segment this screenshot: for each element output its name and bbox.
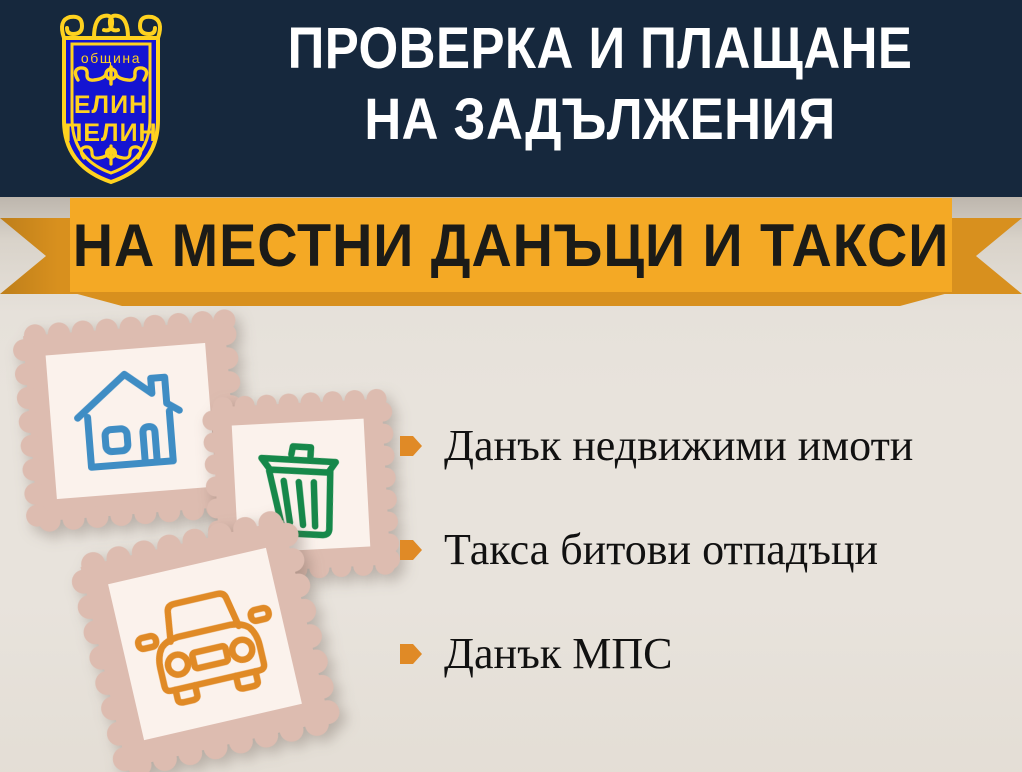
svg-text:ПЕЛИН: ПЕЛИН (64, 119, 157, 147)
list-item[interactable]: Данък МПС (400, 628, 1010, 680)
subtitle-ribbon: НА МЕСТНИ ДАНЪЦИ И ТАКСИ (0, 198, 1022, 310)
ribbon-shadow-strip (70, 292, 952, 306)
page-title-line-1: ПРОВЕРКА И ПЛАЩАНЕ (239, 14, 961, 85)
page-title-line-2: НА ЗАДЪЛЖЕНИЯ (239, 85, 961, 156)
svg-text:община: община (81, 50, 141, 66)
list-item-label: Данък недвижими имоти (444, 424, 913, 468)
arrow-bullet-icon (400, 537, 422, 563)
list-item[interactable]: Данък недвижими имоти (400, 420, 1010, 472)
svg-text:ЕЛИН: ЕЛИН (74, 91, 148, 119)
tax-types-list: Данък недвижими имоти Такса битови отпад… (400, 420, 1010, 680)
ribbon-subtitle: НА МЕСТНИ ДАНЪЦИ И ТАКСИ (101, 198, 921, 292)
list-item-label: Такса битови отпадъци (444, 528, 878, 572)
list-item-label: Данък МПС (444, 632, 672, 676)
arrow-bullet-icon (400, 641, 422, 667)
arrow-bullet-icon (400, 433, 422, 459)
page-title: ПРОВЕРКА И ПЛАЩАНЕ НА ЗАДЪЛЖЕНИЯ (239, 14, 961, 156)
poster-canvas: община ЕЛИН ПЕЛИН (0, 0, 1022, 772)
header-band: община ЕЛИН ПЕЛИН (0, 0, 1022, 197)
list-item[interactable]: Такса битови отпадъци (400, 524, 1010, 576)
municipality-crest-icon: община ЕЛИН ПЕЛИН (42, 8, 180, 188)
